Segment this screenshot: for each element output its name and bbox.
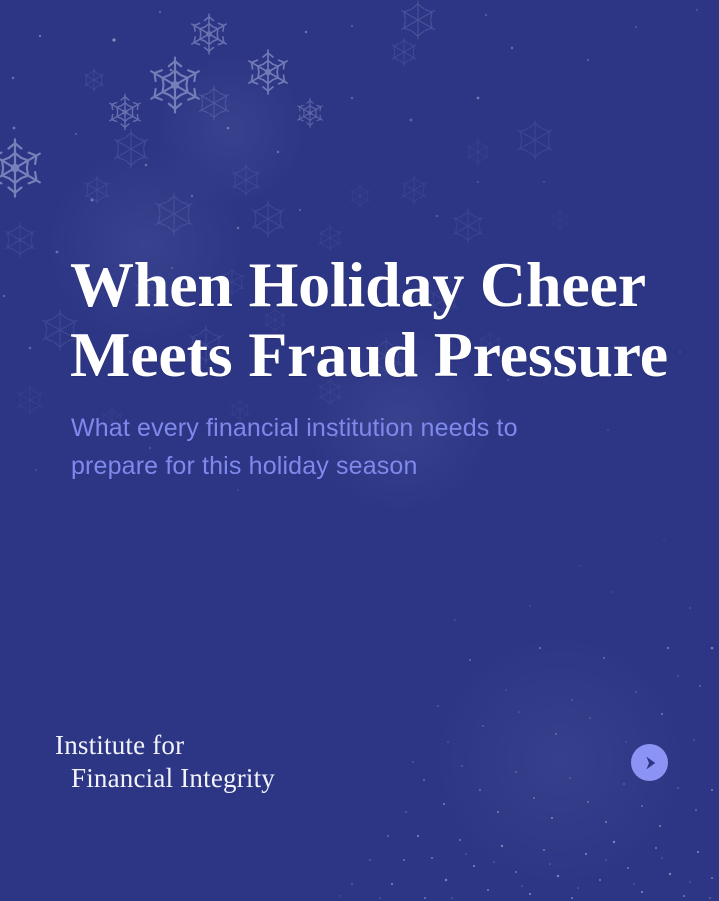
cover-slide: When Holiday Cheer Meets Fraud Pressure … bbox=[0, 0, 719, 901]
page-title: When Holiday Cheer Meets Fraud Pressure bbox=[70, 250, 680, 390]
next-slide-button[interactable] bbox=[631, 744, 668, 781]
logo-line-2: Financial Integrity bbox=[55, 762, 275, 795]
organization-logo: Institute for Financial Integrity bbox=[55, 729, 275, 795]
cover-content: When Holiday Cheer Meets Fraud Pressure … bbox=[0, 0, 719, 901]
logo-line-1: Institute for bbox=[55, 730, 184, 760]
page-subtitle: What every financial institution needs t… bbox=[71, 409, 631, 485]
play-arrow-icon bbox=[641, 754, 659, 772]
